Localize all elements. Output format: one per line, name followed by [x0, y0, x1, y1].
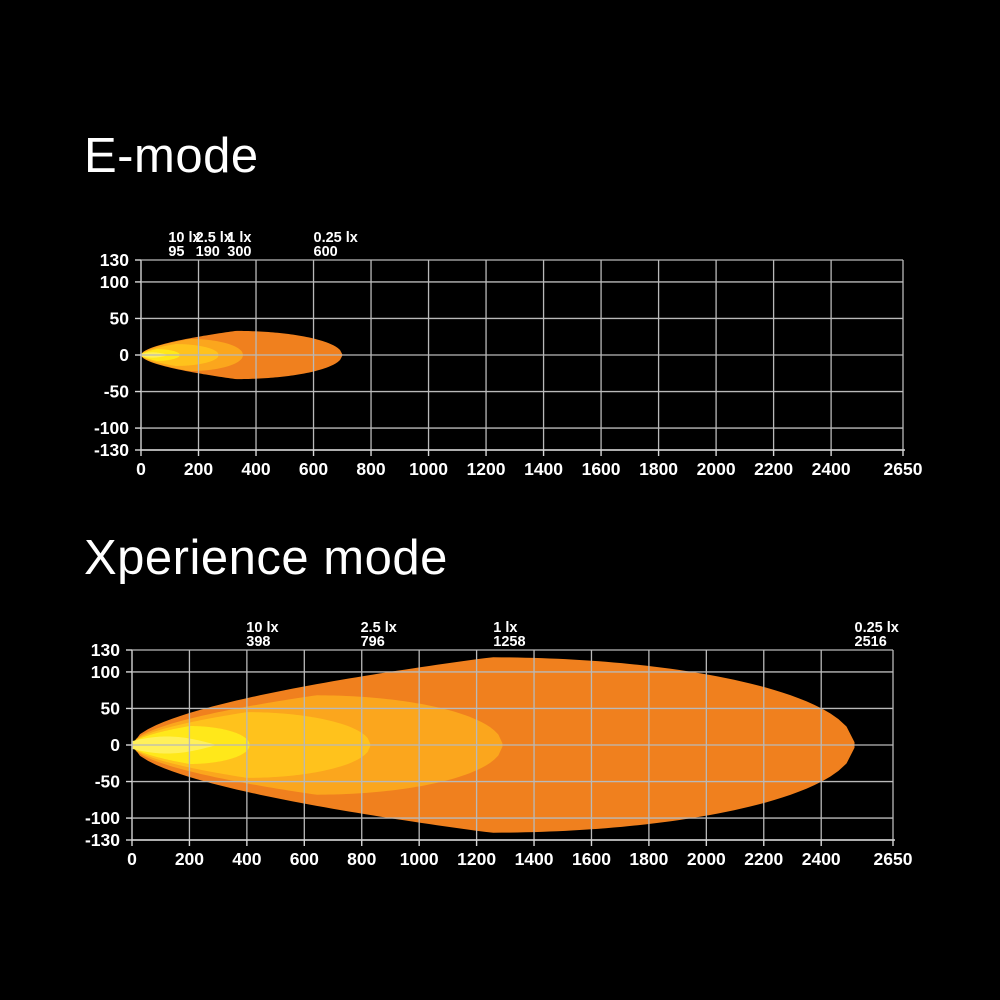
x-tick-label: 1200 — [467, 459, 506, 479]
top-marker-distance-label: 190 — [196, 244, 220, 260]
y-tick-label: 100 — [100, 272, 129, 292]
top-marker-distance-label: 398 — [246, 634, 270, 650]
x-tick-label: 2400 — [812, 459, 851, 479]
top-marker-distance-label: 95 — [168, 244, 184, 260]
y-tick-labels: 130100500-50-100-130 — [85, 640, 132, 850]
x-tick-label: 600 — [299, 459, 328, 479]
x-tick-labels: 0200400600800100012001400160018002000220… — [127, 849, 913, 869]
y-tick-label: -130 — [94, 440, 129, 460]
top-marker: 1 lx1258 — [493, 620, 525, 650]
top-marker-distance-label: 600 — [314, 244, 338, 260]
top-marker: 10 lx398 — [246, 620, 278, 650]
x-tick-label: 1200 — [457, 849, 496, 869]
beam-chart-e-mode: 0200400600800100012001400160018002000220… — [0, 222, 1000, 482]
x-tick-label: 1600 — [572, 849, 611, 869]
top-marker-distance-label: 796 — [361, 634, 385, 650]
x-tick-label: 600 — [290, 849, 319, 869]
x-tick-label: 2000 — [697, 459, 736, 479]
y-tick-label: 130 — [91, 640, 120, 660]
top-marker: 2.5 lx796 — [361, 620, 397, 650]
x-tick-label: 400 — [232, 849, 261, 869]
x-tick-label: 1400 — [524, 459, 563, 479]
x-tick-labels: 0200400600800100012001400160018002000220… — [136, 459, 923, 479]
x-tick-label: 2400 — [802, 849, 841, 869]
x-tick-label: 2650 — [884, 459, 923, 479]
chart-title-e-mode: E-mode — [84, 128, 259, 184]
x-tick-label: 1000 — [400, 849, 439, 869]
top-marker: 0.25 lx600 — [314, 230, 358, 260]
y-tick-label: 0 — [119, 345, 129, 365]
chart-title-xperience-mode: Xperience mode — [84, 530, 448, 586]
beam-chart-e-mode-svg: 0200400600800100012001400160018002000220… — [0, 222, 1000, 482]
grid-lines — [141, 260, 903, 450]
x-tick-label: 800 — [347, 849, 376, 869]
x-tick-label: 1000 — [409, 459, 448, 479]
y-tick-label: -130 — [85, 830, 120, 850]
x-tick-label: 1800 — [639, 459, 678, 479]
x-tick-label: 2000 — [687, 849, 726, 869]
y-tick-labels: 130100500-50-100-130 — [94, 250, 141, 460]
top-marker-distance-label: 1258 — [493, 634, 525, 650]
y-tick-label: 50 — [101, 698, 121, 718]
y-tick-label: 0 — [110, 735, 120, 755]
x-tick-label: 2200 — [754, 459, 793, 479]
x-tick-label: 2650 — [874, 849, 913, 869]
y-tick-label: 130 — [100, 250, 129, 270]
x-tick-label: 400 — [241, 459, 270, 479]
top-marker: 0.25 lx2516 — [855, 620, 899, 650]
x-axis — [132, 840, 895, 846]
y-tick-label: -100 — [85, 808, 120, 828]
y-tick-label: 100 — [91, 662, 120, 682]
top-markers: 10 lx3982.5 lx7961 lx12580.25 lx2516 — [246, 620, 899, 650]
top-markers: 10 lx952.5 lx1901 lx3000.25 lx600 — [168, 230, 358, 260]
x-tick-label: 1400 — [515, 849, 554, 869]
x-tick-label: 200 — [184, 459, 213, 479]
x-tick-label: 1600 — [582, 459, 621, 479]
y-tick-label: -50 — [95, 772, 121, 792]
x-tick-label: 0 — [136, 459, 146, 479]
x-tick-label: 2200 — [744, 849, 783, 869]
top-marker: 1 lx300 — [227, 230, 251, 260]
top-marker-distance-label: 300 — [227, 244, 251, 260]
top-marker-distance-label: 2516 — [855, 634, 887, 650]
x-tick-label: 1800 — [629, 849, 668, 869]
x-tick-label: 800 — [356, 459, 385, 479]
y-tick-label: -100 — [94, 418, 129, 438]
x-axis — [141, 450, 905, 456]
y-tick-label: -50 — [104, 382, 130, 402]
beam-chart-xperience-mode-svg: 0200400600800100012001400160018002000220… — [0, 612, 1000, 872]
x-tick-label: 200 — [175, 849, 204, 869]
x-tick-label: 0 — [127, 849, 137, 869]
beam-chart-xperience-mode: 0200400600800100012001400160018002000220… — [0, 612, 1000, 872]
y-tick-label: 50 — [110, 308, 130, 328]
beam-diagram-page: E-mode 020040060080010001200140016001800… — [0, 0, 1000, 1000]
